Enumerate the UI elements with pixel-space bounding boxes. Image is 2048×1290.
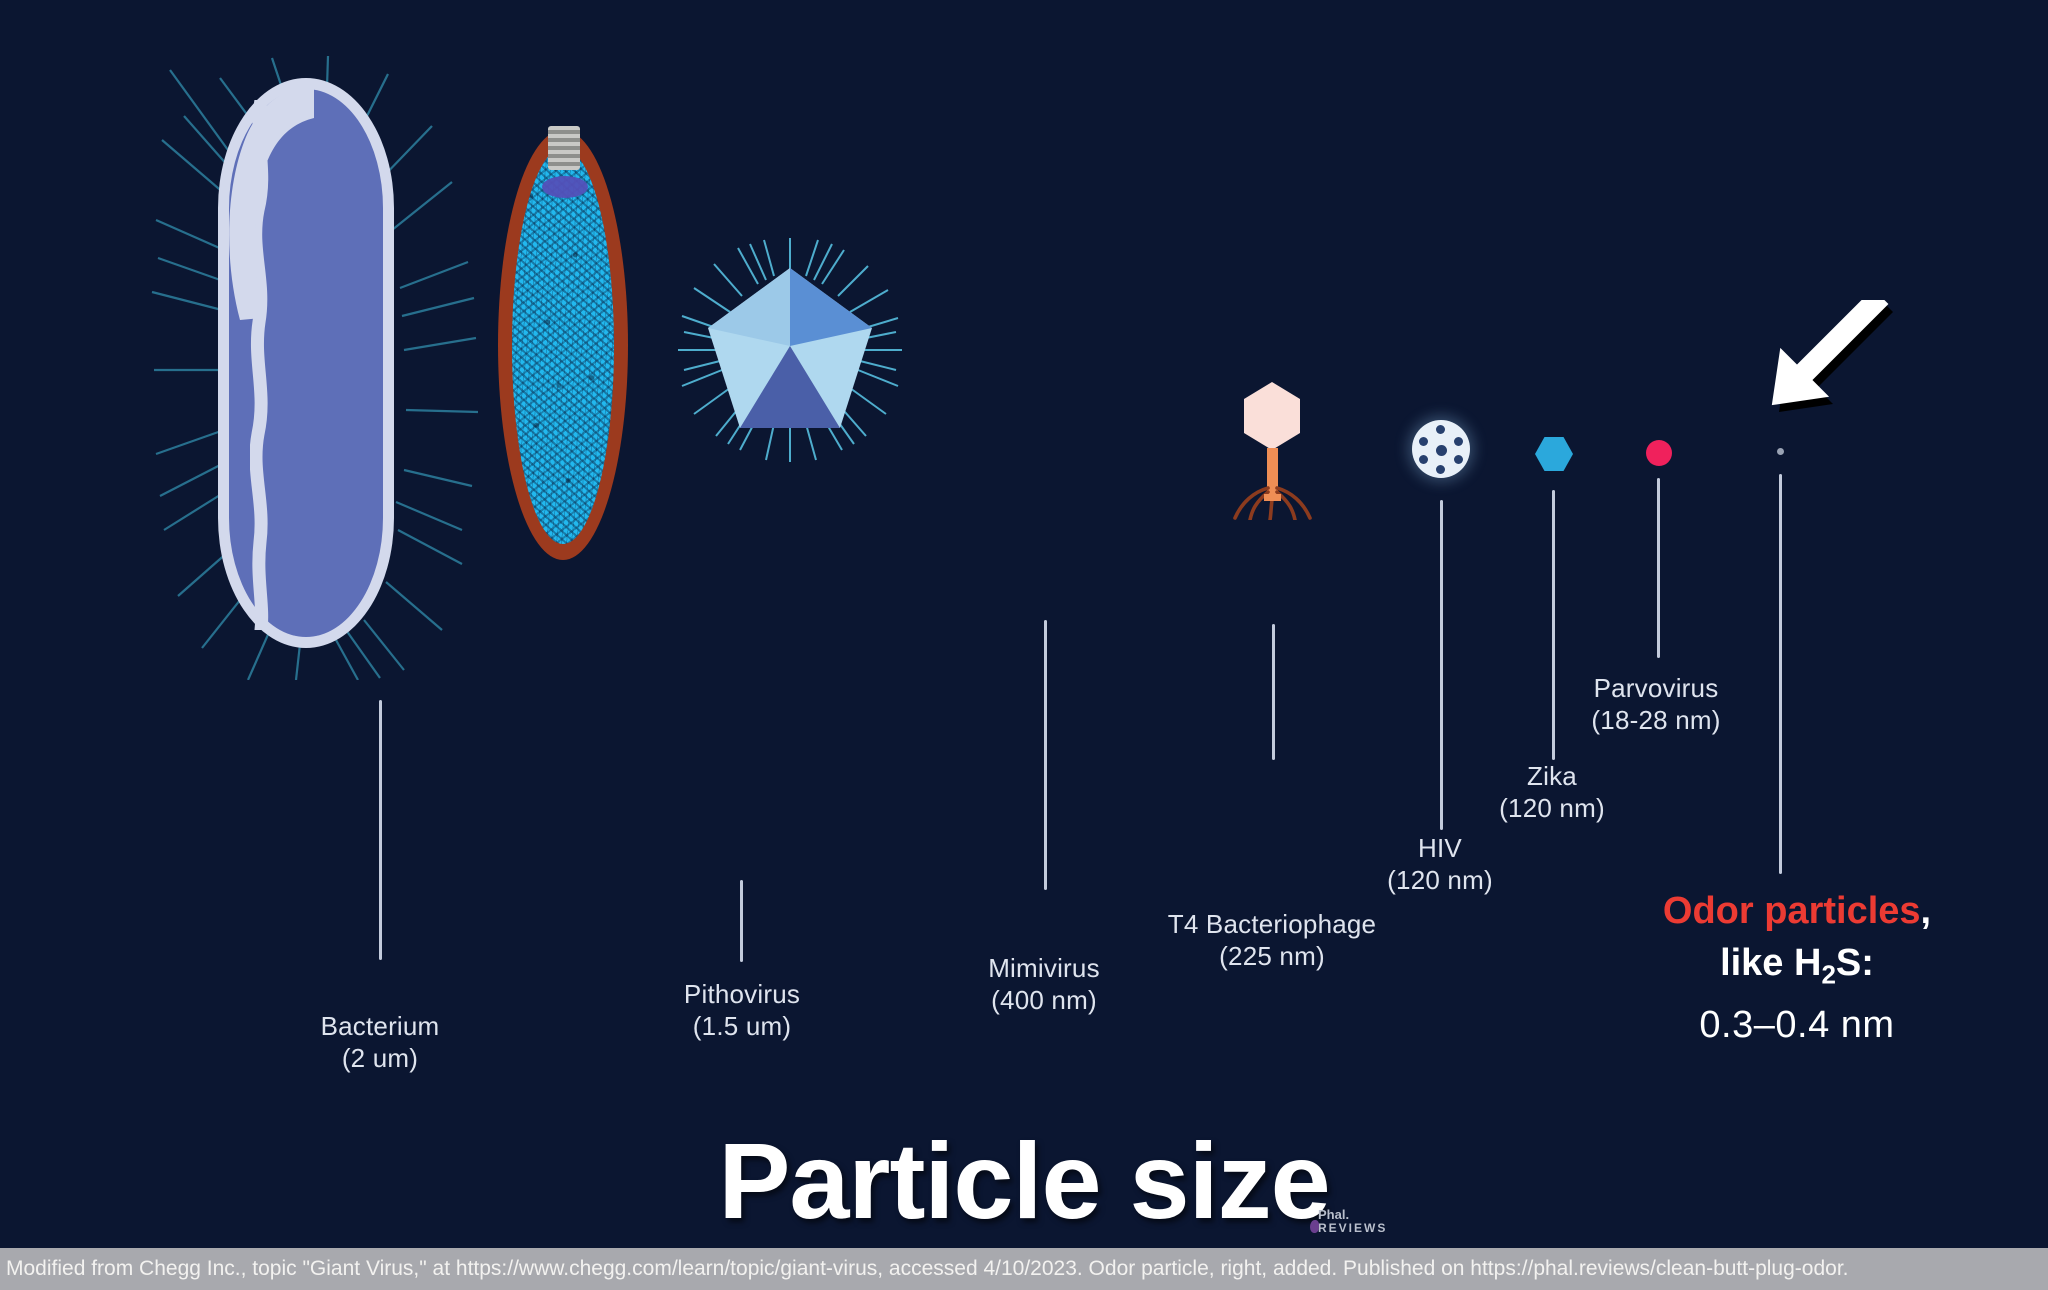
watermark-line-2: REVIEWS	[1318, 1222, 1428, 1235]
label-t4-size: (225 nm)	[1122, 940, 1422, 972]
pointer-arrow-icon	[1755, 300, 1905, 440]
odor-line-2: like H2S:	[1612, 940, 1982, 991]
label-bacterium-name: Bacterium	[321, 1011, 440, 1041]
label-parvovirus-name: Parvovirus	[1594, 673, 1719, 703]
odor-highlight-text: Odor particles	[1663, 890, 1921, 932]
mimivirus-figure	[690, 250, 890, 450]
t4-phage-icon	[1222, 380, 1322, 520]
label-pithovirus-name: Pithovirus	[684, 979, 800, 1009]
leader-line-t4-bacteriophage	[1272, 624, 1275, 760]
watermark-line-1: Phal.	[1318, 1208, 1428, 1222]
odor-line-1: Odor particles,	[1612, 888, 1982, 934]
watermark: Phal. REVIEWS	[1318, 1208, 1428, 1234]
odor-formula-pre: like H	[1720, 942, 1821, 984]
hiv-spike	[1454, 455, 1463, 464]
page-title: Particle size	[0, 1118, 2048, 1243]
odor-highlight-comma: ,	[1921, 890, 1932, 932]
label-parvovirus: Parvovirus (18-28 nm)	[1506, 672, 1806, 736]
leader-line-bacterium	[379, 700, 382, 960]
bacterium-figure	[150, 30, 480, 680]
hiv-spike	[1436, 465, 1445, 474]
hiv-core	[1436, 445, 1447, 456]
label-odor-particles: Odor particles, like H2S: 0.3–0.4 nm	[1612, 888, 1982, 1048]
bacterium-dna-strand-icon	[250, 100, 272, 630]
bacterium-body	[218, 78, 394, 648]
odor-particle-figure	[1777, 448, 1784, 455]
label-bacterium-size: (2 um)	[230, 1042, 530, 1074]
label-pithovirus-size: (1.5 um)	[592, 1010, 892, 1042]
pithovirus-core	[512, 148, 614, 544]
hiv-figure	[1412, 420, 1470, 478]
hiv-spike	[1454, 437, 1463, 446]
hiv-spike	[1419, 437, 1428, 446]
source-caption: Modified from Chegg Inc., topic "Giant V…	[0, 1248, 2048, 1290]
hiv-spike	[1436, 425, 1445, 434]
label-zika-size: (120 nm)	[1402, 792, 1702, 824]
zika-figure	[1535, 437, 1573, 471]
odor-line-3: 0.3–0.4 nm	[1612, 1002, 1982, 1048]
label-t4-bacteriophage: T4 Bacteriophage (225 nm)	[1122, 908, 1422, 972]
mimivirus-capsid-icon	[690, 250, 890, 450]
label-mimivirus-name: Mimivirus	[988, 953, 1100, 983]
label-parvovirus-size: (18-28 nm)	[1506, 704, 1806, 736]
label-mimivirus-size: (400 nm)	[894, 984, 1194, 1016]
label-bacterium: Bacterium (2 um)	[230, 1010, 530, 1074]
label-hiv-size: (120 nm)	[1290, 864, 1590, 896]
odor-formula-post: S:	[1836, 942, 1874, 984]
leader-line-mimivirus	[1044, 620, 1047, 890]
label-hiv-name: HIV	[1418, 833, 1462, 863]
hiv-spike	[1419, 455, 1428, 464]
label-zika: Zika (120 nm)	[1402, 760, 1702, 824]
parvovirus-figure	[1646, 440, 1672, 466]
leader-line-odor-particle	[1779, 474, 1782, 874]
label-t4-name: T4 Bacteriophage	[1168, 909, 1376, 939]
leader-line-pithovirus	[740, 880, 743, 962]
pithovirus-figure	[498, 130, 628, 560]
infographic-canvas: Bacterium (2 um) Pithovirus (1.5 um)	[0, 0, 2048, 1290]
odor-formula-subscript: 2	[1821, 960, 1835, 990]
leader-line-parvovirus	[1657, 478, 1660, 658]
label-hiv: HIV (120 nm)	[1290, 832, 1590, 896]
pithovirus-nucleoid	[542, 176, 588, 198]
watermark-mark-icon	[1310, 1220, 1319, 1233]
pithovirus-cork-icon	[548, 126, 580, 170]
label-pithovirus: Pithovirus (1.5 um)	[592, 978, 892, 1042]
t4-bacteriophage-figure	[1222, 380, 1322, 520]
label-zika-name: Zika	[1527, 761, 1577, 791]
